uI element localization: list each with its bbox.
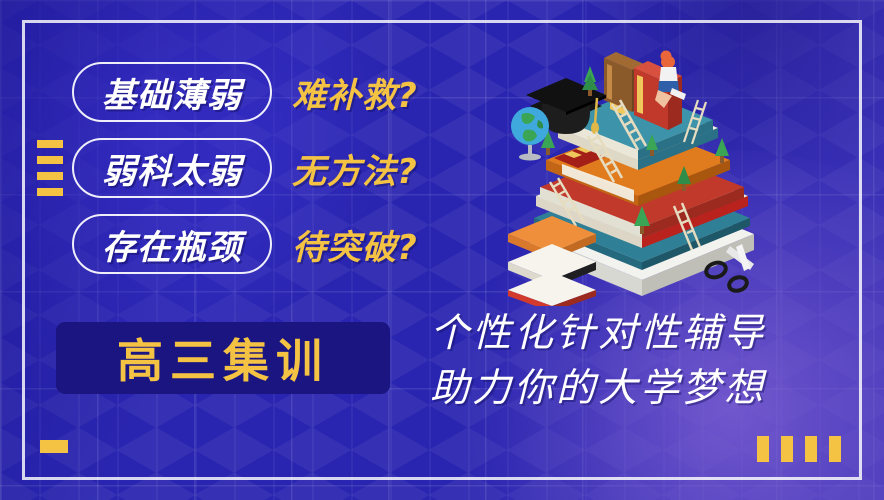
problem-label: 存在瓶颈 [102, 220, 242, 269]
problem-pill: 弱科太弱 [72, 138, 272, 198]
problem-row: 基础薄弱 难补救? [72, 62, 418, 122]
problem-label: 基础薄弱 [102, 68, 242, 117]
left-dash-decor [37, 140, 63, 196]
promo-banner: 基础薄弱 难补救? 弱科太弱 无方法? 存在瓶颈 待突破? 高三集训 个性化针对… [0, 0, 884, 500]
bottom-left-bar-decor [40, 440, 68, 453]
bottom-right-bars-decor [757, 436, 841, 462]
dash-mark [37, 172, 63, 180]
dash-mark [37, 188, 63, 196]
globe-icon [511, 107, 549, 161]
dash-mark [37, 140, 63, 148]
course-title: 高三集训 [117, 325, 329, 391]
course-title-block: 高三集训 [56, 322, 390, 394]
problem-pill: 基础薄弱 [72, 62, 272, 122]
tagline-line-2: 助力你的大学梦想 [430, 361, 830, 416]
bar-mark [805, 436, 817, 462]
dash-mark [37, 156, 63, 164]
book-stack-illustration [492, 38, 792, 306]
tagline-block: 个性化针对性辅导 助力你的大学梦想 [430, 306, 830, 417]
tagline-line-1: 个性化针对性辅导 [430, 306, 830, 361]
problem-question: 难补救? [292, 68, 418, 117]
problem-question: 无方法? [292, 144, 418, 193]
problem-label: 弱科太弱 [102, 144, 242, 193]
small-book-pile [508, 216, 596, 306]
bar-mark [829, 436, 841, 462]
problem-question: 待突破? [292, 220, 418, 269]
problem-row: 存在瓶颈 待突破? [72, 214, 418, 274]
bar-mark [757, 436, 769, 462]
problem-row: 弱科太弱 无方法? [72, 138, 418, 198]
bar-mark [781, 436, 793, 462]
problem-pill: 存在瓶颈 [72, 214, 272, 274]
problem-row-list: 基础薄弱 难补救? 弱科太弱 无方法? 存在瓶颈 待突破? [72, 62, 418, 290]
